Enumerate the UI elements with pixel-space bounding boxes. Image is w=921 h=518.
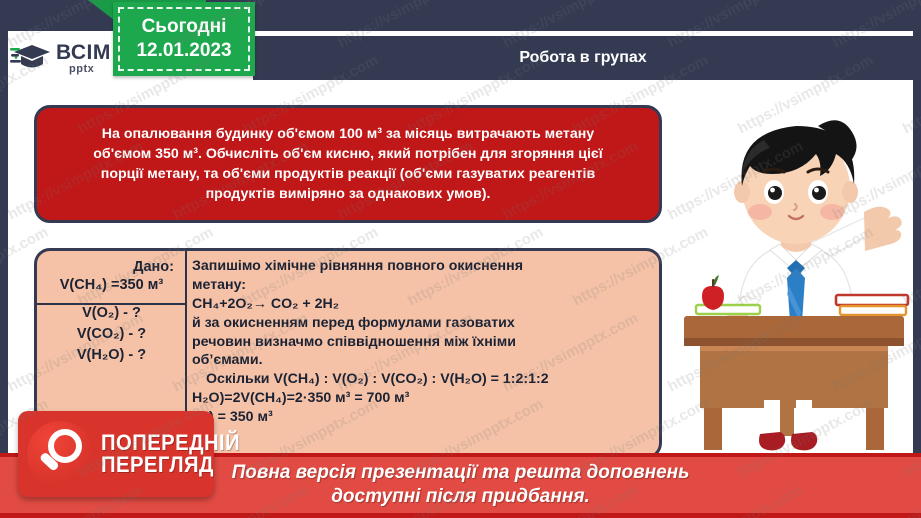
work-line-1: метану: (192, 276, 653, 295)
logo-subtitle: pptx (69, 64, 111, 75)
preview-badge[interactable]: ПОПЕРЕДНІЙ ПЕРЕГЛЯД (18, 411, 214, 497)
given-divider-horizontal (34, 303, 186, 305)
given-title: Дано: (43, 259, 180, 275)
given-unknown-2: V(H₂O) - ? (43, 347, 180, 363)
given-unknown-1: V(CO₂) - ? (43, 326, 180, 342)
logo-title: ВСІМ (56, 42, 111, 63)
graduation-cap-icon (10, 41, 52, 75)
given-equation: V(CH₄) =350 м³ (43, 277, 180, 293)
date-badge-date: 12.01.2023 (136, 39, 231, 63)
work-line-5: об’ємами. (192, 351, 653, 370)
preview-badge-line1: ПОПЕРЕДНІЙ (101, 432, 240, 454)
banner-line-1: Повна версія презентації та решта доповн… (232, 461, 690, 485)
solution-work-column: Запишімо хімічне рівняння повного окисне… (192, 257, 653, 427)
work-line-6: Оскільки V(CH₄) : V(O₂) : V(CO₂) : V(H₂O… (192, 370, 653, 389)
given-unknown-0: V(O₂) - ? (43, 305, 180, 321)
work-line-0: Запишімо хімічне рівняння повного окисне… (192, 257, 653, 276)
work-line-2: CH₄+2O₂→ CO₂ + 2H₂ (192, 295, 653, 314)
slide-title-bar: Робота в групах (253, 36, 913, 80)
work-line-7: H₂O)=2V(CH₄)=2·350 м³ = 700 м³ (192, 389, 653, 408)
task-statement-box: На опалювання будинку об'ємом 100 м³ за … (34, 105, 662, 223)
brand-logo[interactable]: ВСІМ pptx (10, 36, 120, 80)
task-line-2: об'ємом 350 м³. Обчисліть об'єм кисню, я… (93, 144, 602, 164)
page-title: Робота в групах (519, 49, 646, 67)
task-line-3: порції метану, та об'єми продуктів реакц… (93, 164, 602, 184)
task-line-4: продуктів виміряно за однакових умов). (93, 184, 602, 204)
work-line-8: H₄) = 350 м³ (192, 408, 653, 427)
given-unknowns-list: V(O₂) - ? V(CO₂) - ? V(H₂O) - ? (43, 305, 180, 363)
date-badge-label: Сьогодні (142, 15, 227, 39)
preview-badge-line2: ПЕРЕГЛЯД (101, 454, 240, 476)
banner-line-2: доступні після придбання. (331, 485, 590, 509)
slide-root: ВСІМ pptx Сьогодні 12.01.2023 Робота в г… (0, 0, 921, 518)
boy-at-desk-illustration (668, 100, 914, 460)
work-line-3: й за окисненням перед формулами газовати… (192, 314, 653, 333)
task-line-1: На опалювання будинку об'ємом 100 м³ за … (93, 124, 602, 144)
task-statement-text: На опалювання будинку об'ємом 100 м³ за … (93, 124, 602, 205)
today-date-badge: Сьогодні 12.01.2023 (113, 2, 255, 76)
work-line-4: речовин визначмо співвідношення між їхні… (192, 333, 653, 352)
magnifier-icon (27, 421, 93, 487)
